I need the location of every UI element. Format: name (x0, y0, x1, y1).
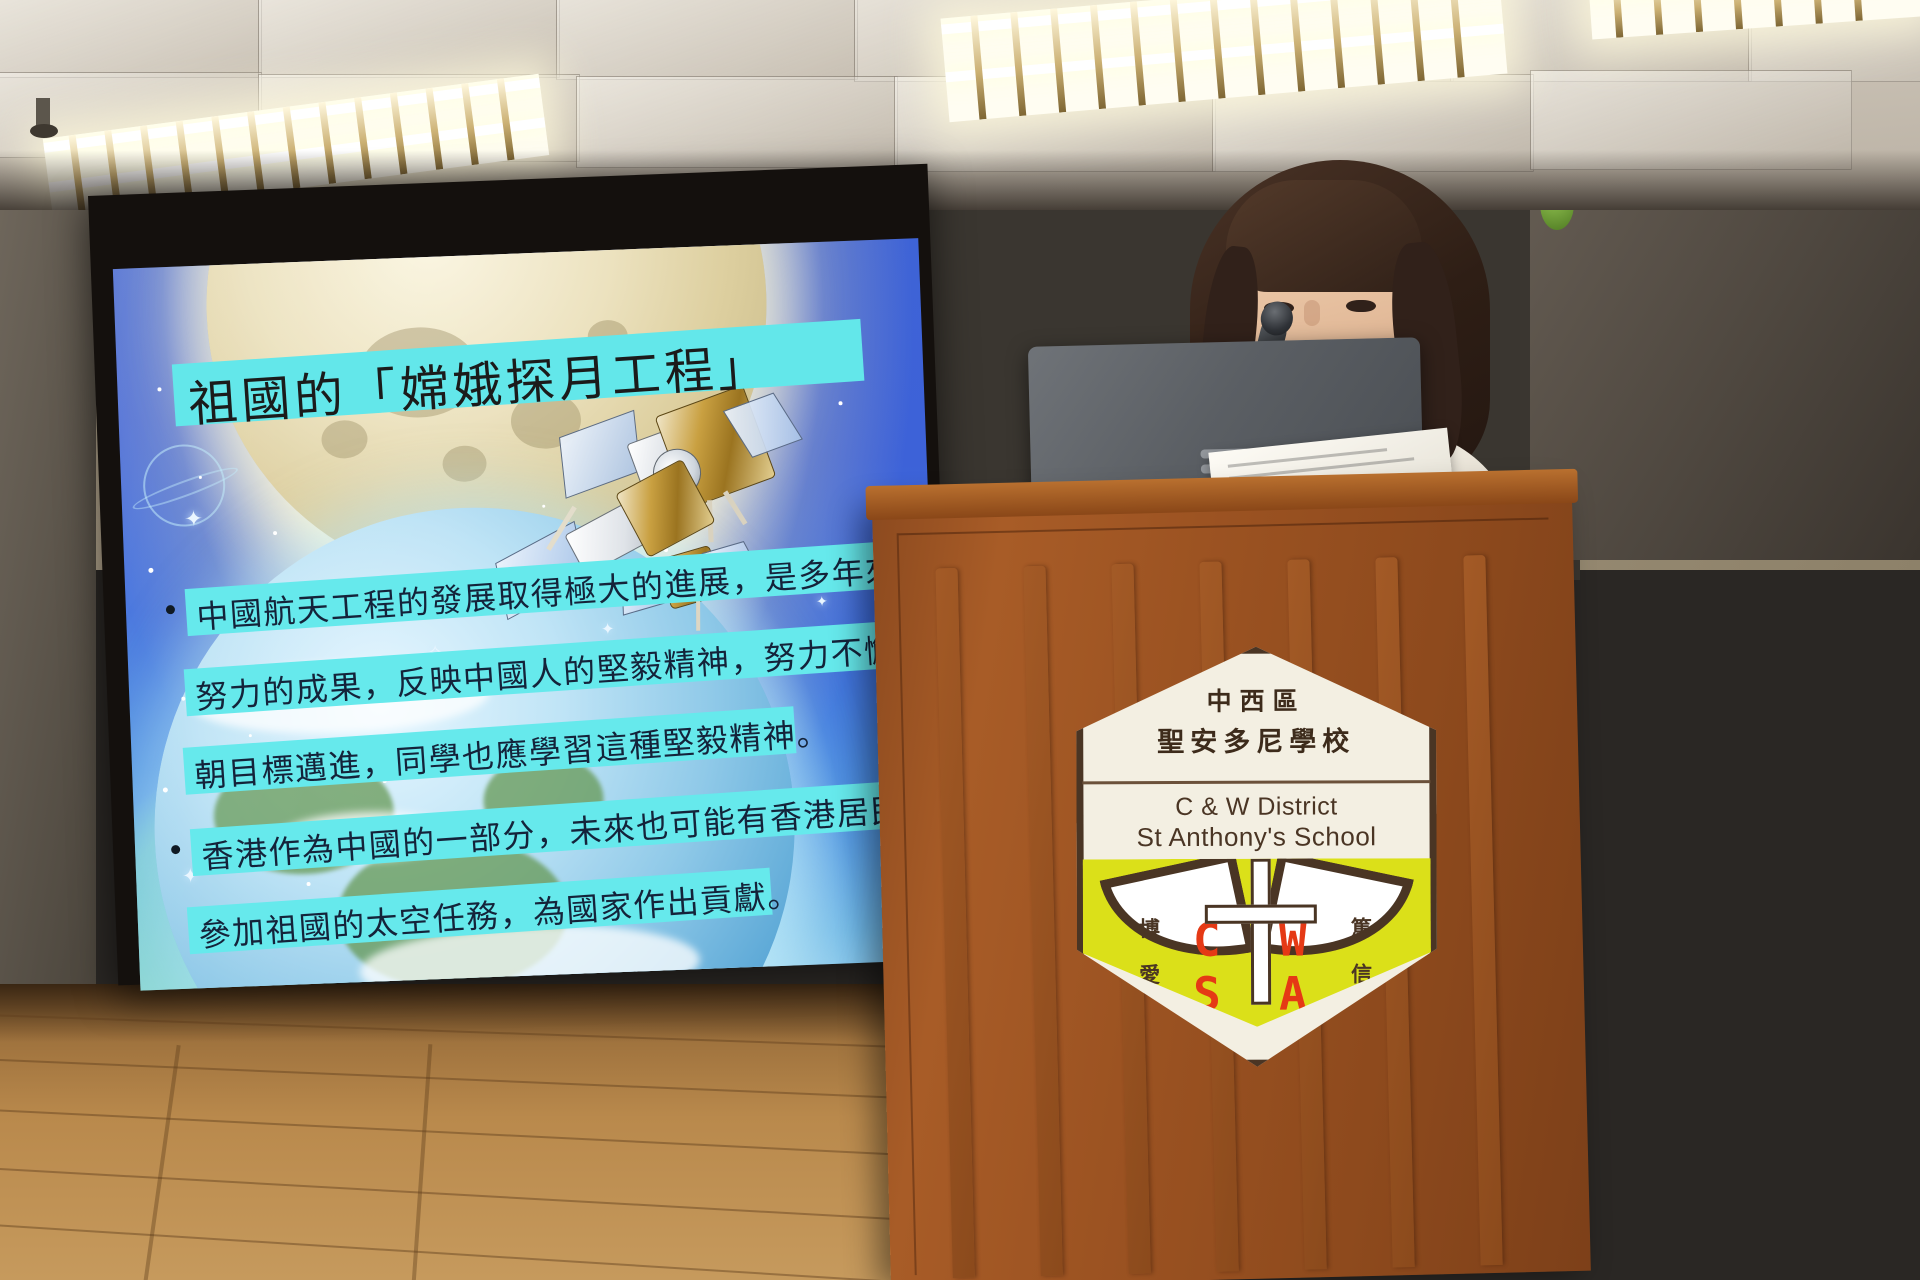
crest-chinese-block: 中西區 聖安多尼學校 (1086, 660, 1426, 779)
school-crest: 中西區 聖安多尼學校 C & W District St Anthony's S… (1076, 646, 1437, 1067)
lectern: 中西區 聖安多尼學校 C & W District St Anthony's S… (872, 491, 1591, 1280)
presentation-slide: ✦ ✦ ✧ ✦ ✦ ✦ ✦ (113, 238, 946, 990)
crest-motto-char-3: 篤 (1351, 912, 1372, 942)
nose (1304, 300, 1320, 326)
crest-school-chinese: 聖安多尼學校 (1157, 719, 1355, 759)
crest-emblem-field: C W S A 博 愛 篤 信 (1083, 858, 1432, 1027)
presentation-photo-scene: ✦ ✦ ✧ ✦ ✦ ✦ ✦ (0, 0, 1920, 1280)
left-wall-panel (0, 170, 96, 1000)
ceiling (0, 0, 1920, 210)
stage-floor (0, 984, 900, 1280)
crest-district-chinese: 中西區 (1207, 681, 1306, 717)
crest-cross-horizontal (1205, 904, 1317, 923)
bullet-marker-1 (166, 605, 175, 614)
crest-school-english: St Anthony's School (1137, 821, 1377, 853)
projection-screen: ✦ ✦ ✧ ✦ ✦ ✦ ✦ (88, 164, 958, 986)
crest-district-english: C & W District (1175, 792, 1338, 822)
crest-motto-char-1: 博 (1139, 913, 1160, 943)
crest-cross-vertical (1251, 859, 1272, 1005)
crest-english-block: C & W District St Anthony's School (1082, 780, 1430, 865)
